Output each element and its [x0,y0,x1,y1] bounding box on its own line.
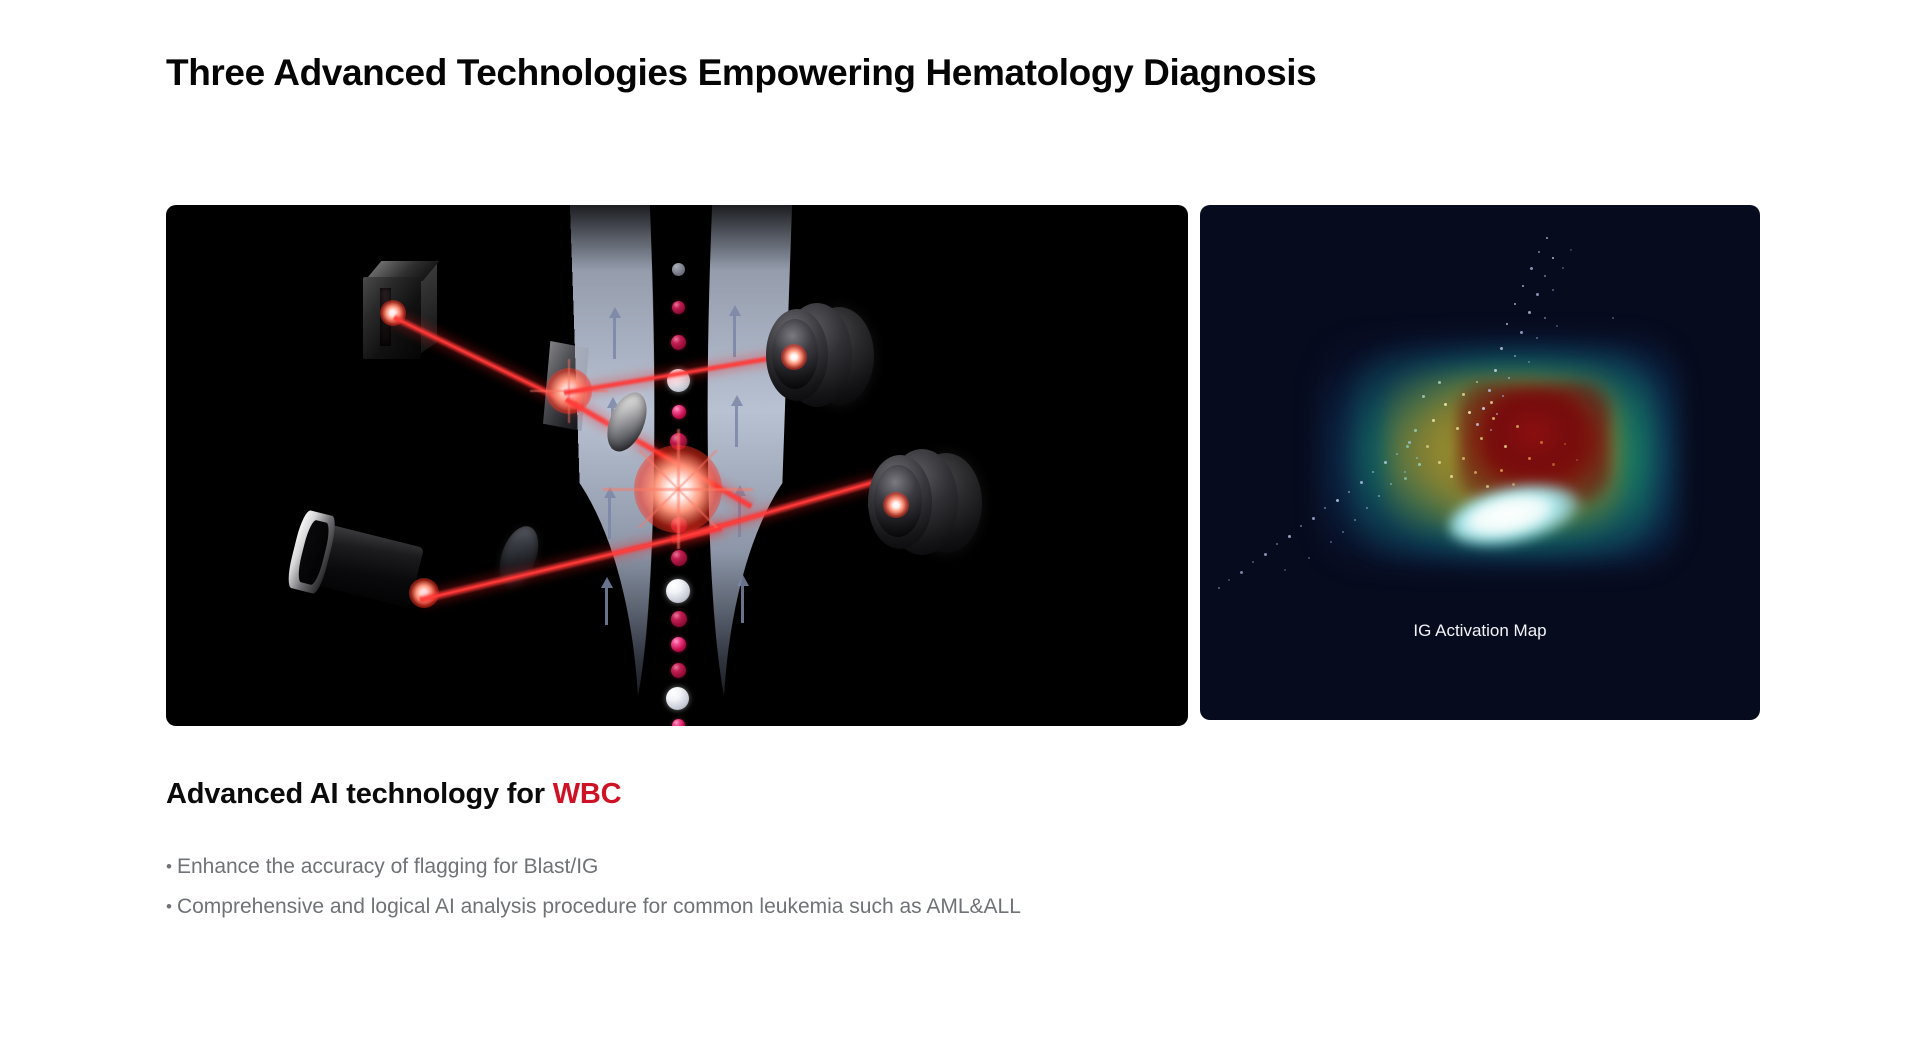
page-title: Three Advanced Technologies Empowering H… [166,52,1316,94]
cell-particle [671,637,686,652]
scatter-point [1486,485,1489,488]
scatter-point [1490,401,1493,404]
scatter-main-cluster-points [1200,205,1760,720]
cell-particle [671,335,686,350]
cell-particle [672,719,685,726]
detector-objective-top [764,301,874,411]
cell-particle [672,405,686,419]
laser-aperture [380,288,390,345]
scatter-point [1468,411,1471,414]
scatter-point [1462,393,1465,396]
scatter-point [1438,381,1441,384]
camera-module [312,524,424,608]
objective-lens [772,319,818,389]
list-item: •Comprehensive and logical AI analysis p… [166,887,1021,927]
detector-objective-right [866,447,982,559]
scatter-point [1456,427,1459,430]
section-headline: Advanced AI technology for WBC [166,778,621,811]
ig-activation-map-panel[interactable]: IG Activation Map [1200,205,1760,720]
ig-activation-map-canvas: IG Activation Map [1200,205,1760,720]
flow-arrow-icon [741,583,744,623]
scatter-point [1476,381,1478,383]
objective-lens [874,465,922,537]
cell-particle [666,687,689,710]
scatter-point [1500,469,1503,472]
scatter-point [1422,395,1425,398]
list-item-label: Comprehensive and logical AI analysis pr… [177,895,1021,918]
cell-particle [671,663,686,678]
scatter-point [1438,461,1441,464]
optics-scene [166,205,1188,726]
flow-arrow-icon [735,403,738,447]
cell-particle [666,579,690,603]
scatter-point [1418,463,1421,466]
flow-arrow-icon [733,313,736,357]
bullet-marker-icon: • [166,857,172,876]
cell-particle [672,301,685,314]
flow-arrow-icon [605,585,608,625]
bullet-list: •Enhance the accuracy of flagging for Bl… [166,847,1021,927]
scatter-point [1552,463,1555,466]
panels-row: IG Activation Map [166,205,1760,726]
headline-prefix: Advanced AI technology for [166,778,553,810]
flow-arrow-icon [608,495,611,539]
slide-root: Three Advanced Technologies Empowering H… [0,0,1920,1052]
scatter-point [1504,445,1507,448]
scatter-point [1432,419,1435,422]
scatter-point [1492,417,1495,420]
bullet-marker-icon: • [166,897,172,916]
scatter-point [1564,443,1566,445]
scatter-point [1540,441,1543,444]
list-item: •Enhance the accuracy of flagging for Bl… [166,847,1021,887]
scatter-point [1444,403,1447,406]
flow-cytometry-optics-illustration[interactable] [166,205,1188,726]
cell-particle [672,263,685,276]
headline-accent-wbc: WBC [553,778,622,810]
ig-activation-map-label: IG Activation Map [1200,621,1760,641]
list-item-label: Enhance the accuracy of flagging for Bla… [177,855,598,878]
scatter-point [1576,459,1578,461]
scatter-point [1426,445,1429,448]
scatter-point [1480,437,1483,440]
scatter-point [1404,477,1407,480]
scatter-point [1414,429,1417,432]
scatter-point [1474,471,1477,474]
cell-particle [671,550,687,566]
scatter-point [1450,475,1453,478]
flow-arrow-icon [613,315,616,359]
scatter-point [1462,457,1465,460]
scatter-point [1406,445,1409,448]
cell-particle [671,611,687,627]
scatter-point [1516,425,1519,428]
scatter-point [1528,457,1531,460]
